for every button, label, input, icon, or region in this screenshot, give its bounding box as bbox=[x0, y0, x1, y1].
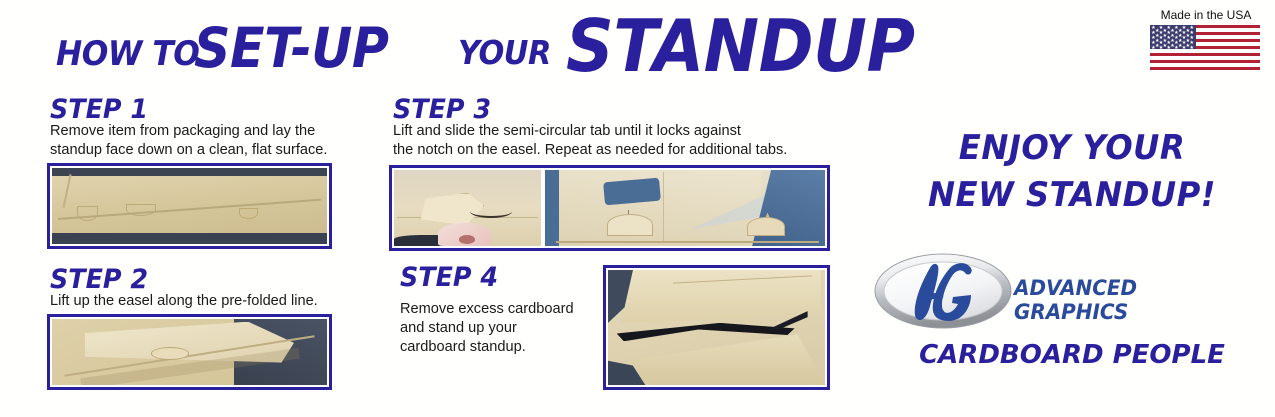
step-4-photo-frame bbox=[603, 265, 830, 390]
brand-tagline: CARDBOARD PEOPLE bbox=[872, 340, 1272, 370]
step-2-photo bbox=[52, 319, 327, 385]
step-2-photo-frame bbox=[47, 314, 332, 390]
step-3-heading: STEP 3 bbox=[393, 94, 491, 125]
flag-stripe bbox=[1150, 53, 1260, 56]
step-2-body: Lift up the easel along the pre-folded l… bbox=[50, 292, 350, 311]
flag-stripe bbox=[1150, 60, 1260, 63]
step-4-heading: STEP 4 bbox=[400, 262, 498, 293]
step-1-body: Remove item from packaging and lay the s… bbox=[50, 122, 350, 160]
promo-headline-line-1: ENJOY YOUR bbox=[901, 128, 1243, 168]
step-1-photo bbox=[52, 168, 327, 244]
brand-logo-row: ADVANCED GRAPHICS bbox=[872, 248, 1272, 334]
step-3-photo-frame bbox=[389, 165, 830, 251]
title-part-how-to: HOW TO bbox=[56, 34, 199, 74]
promo-headline-line-2: NEW STANDUP! bbox=[901, 175, 1243, 215]
usa-flag-icon: ★ ★ ★ ★ ★ ★★ ★ ★ ★ ★★ ★ ★ ★ ★ ★★ ★ ★ ★ ★… bbox=[1150, 25, 1260, 70]
step-1-heading: STEP 1 bbox=[50, 94, 148, 125]
title-part-standup: STANDUP bbox=[566, 4, 915, 88]
made-in-usa-label: Made in the USA bbox=[1150, 8, 1262, 22]
page-title: HOW TO SET-UP YOUR STANDUP bbox=[56, 14, 876, 82]
title-part-set-up: SET-UP bbox=[194, 16, 389, 80]
step-3-body: Lift and slide the semi-circular tab unt… bbox=[393, 122, 833, 160]
step-3-photo-left bbox=[394, 170, 541, 246]
flag-stripe bbox=[1150, 56, 1260, 59]
made-in-usa-badge: Made in the USA ★ ★ ★ ★ ★ ★★ ★ ★ ★ ★★ ★ … bbox=[1150, 8, 1262, 70]
step-4-photo bbox=[608, 270, 825, 385]
step-3-photo-right bbox=[545, 170, 825, 246]
title-part-your: YOUR bbox=[458, 33, 551, 72]
flag-star-row: ★ ★ ★ ★ ★ ★ bbox=[1150, 46, 1196, 51]
brand-name: ADVANCED GRAPHICS bbox=[1014, 276, 1257, 324]
step-4-body: Remove excess cardboard and stand up you… bbox=[400, 300, 610, 357]
standup-setup-instructions-graphic: HOW TO SET-UP YOUR STANDUP Made in the U… bbox=[0, 0, 1275, 417]
flag-stripe bbox=[1150, 63, 1260, 66]
flag-stripe bbox=[1150, 67, 1260, 70]
advanced-graphics-ag-logo-icon bbox=[872, 248, 1014, 334]
step-2-heading: STEP 2 bbox=[50, 264, 148, 295]
step-1-photo-frame bbox=[47, 163, 332, 249]
